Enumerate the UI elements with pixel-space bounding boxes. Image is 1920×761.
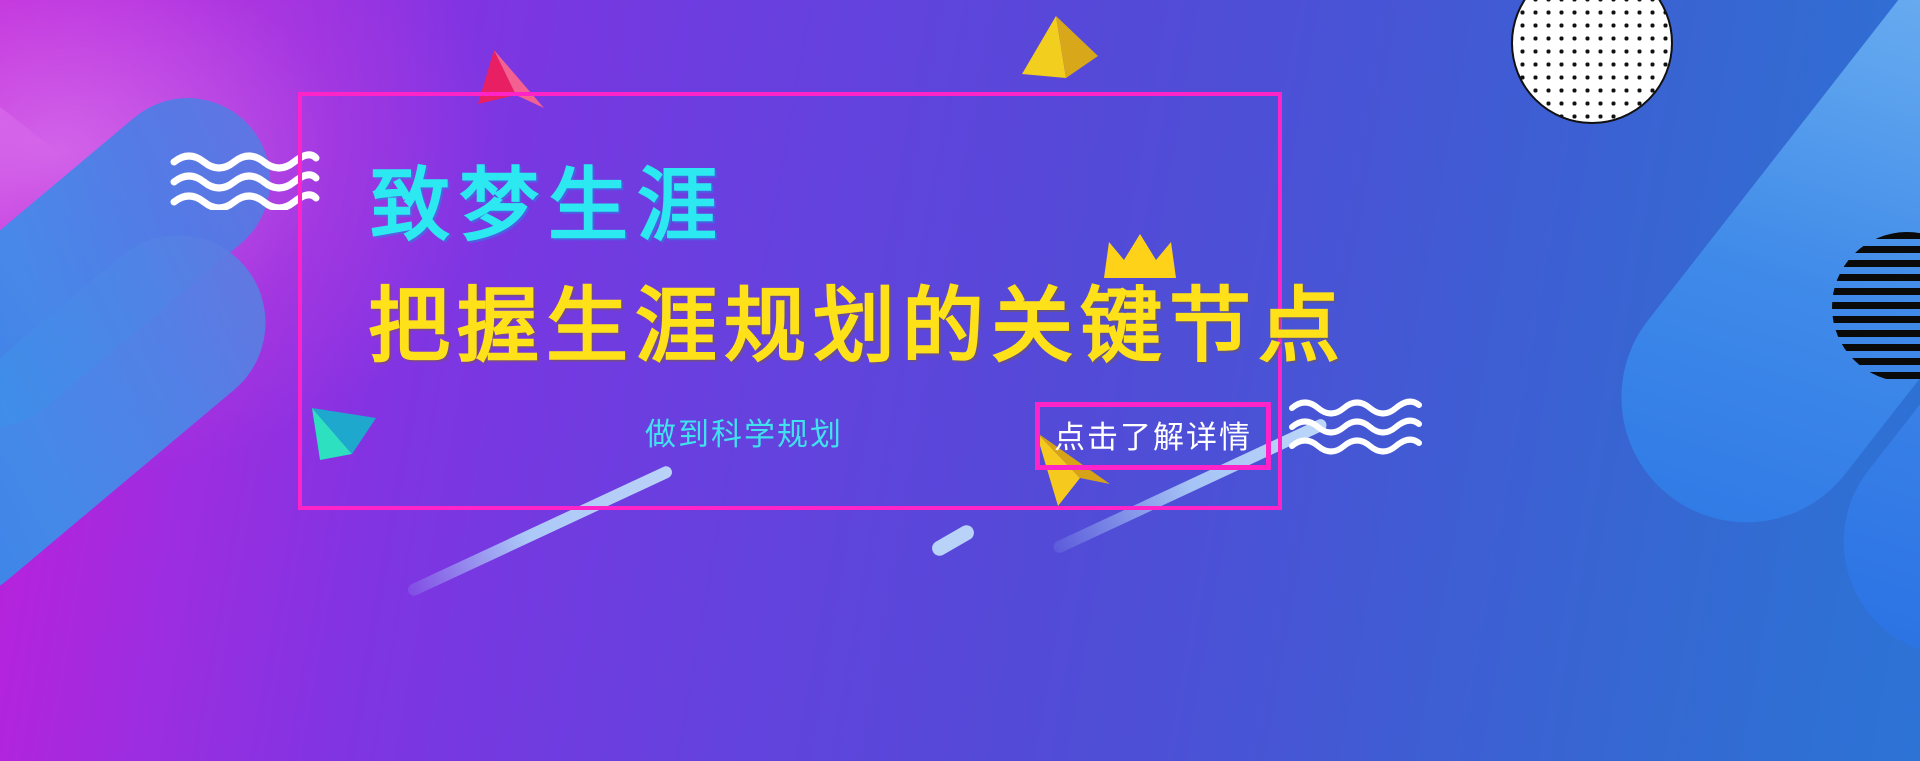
headline-primary: 致梦生涯 [370,166,726,246]
triangle-yellow-top-icon [1022,16,1102,84]
promo-banner: 致梦生涯 把握生涯规划的关键节点 做到科学规划 点击了解详情 [0,0,1920,761]
cta-button-label: 点击了解详情 [1054,420,1252,456]
wave-lines-right [1288,394,1423,456]
dotted-circle-icon [1511,0,1673,124]
headline-secondary: 把握生涯规划的关键节点 [368,286,1347,368]
subtitle-text: 做到科学规划 [645,409,843,454]
light-streak-small [929,523,976,559]
cta-button[interactable]: 点击了解详情 [1035,402,1271,470]
